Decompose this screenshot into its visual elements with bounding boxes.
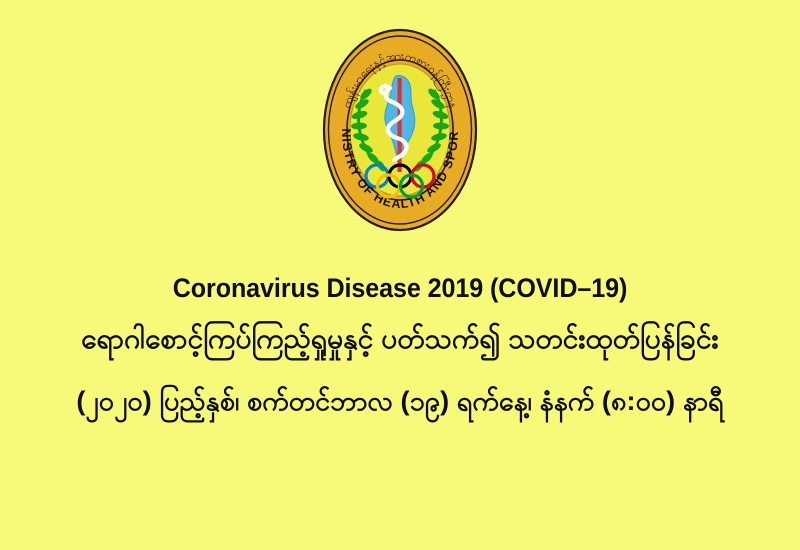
- burmese-date-time-line: (၂၀၂၀) ပြည့်နှစ်၊ စက်တင်ဘာလ (၁၉) ရက်နေ့၊…: [0, 370, 800, 432]
- ministry-emblem: ကျန်းမာရေးနှင့်အားကစားဝန်ကြီးဌာန MINISTR…: [322, 28, 478, 232]
- burmese-subject-line: ရောဂါစောင့်ကြပ်ကြည့်ရှုမှုနှင့် ပတ်သက်၍ …: [0, 308, 800, 370]
- ministry-emblem-graphic: ကျန်းမာရေးနှင့်အားကစားဝန်ကြီးဌာန MINISTR…: [322, 28, 478, 232]
- announcement-text-block: Coronavirus Disease 2019 (COVID–19) ရောဂ…: [0, 268, 800, 432]
- english-title: Coronavirus Disease 2019 (COVID–19): [28, 268, 772, 308]
- announcement-slide: ကျန်းမာရေးနှင့်အားကစားဝန်ကြီးဌာန MINISTR…: [0, 0, 800, 550]
